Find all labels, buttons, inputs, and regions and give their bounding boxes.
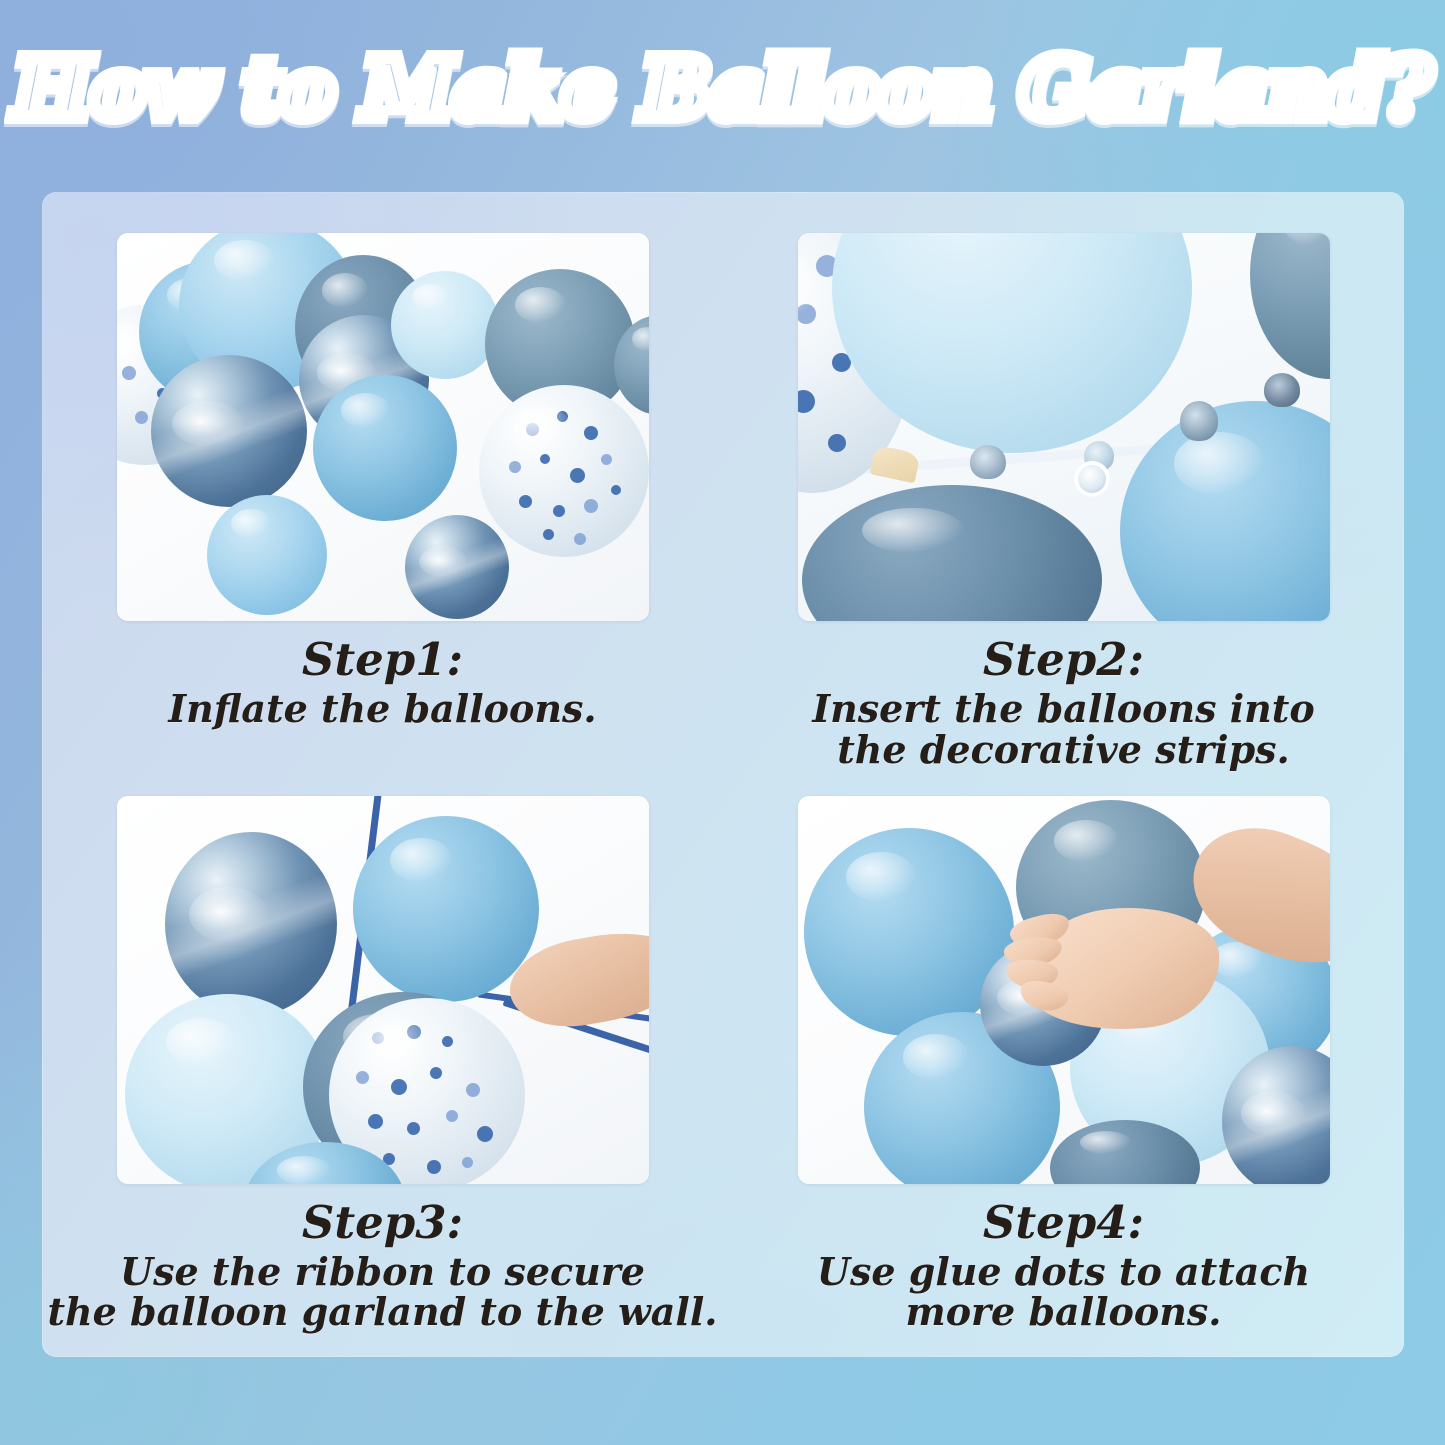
step-desc-2-line2: the decorative strips. bbox=[812, 728, 1314, 772]
step-photo-3 bbox=[117, 796, 649, 1184]
step-photo-2 bbox=[798, 233, 1330, 621]
step-desc-1: Inflate the balloons. bbox=[168, 687, 596, 731]
step-photo-4 bbox=[798, 796, 1330, 1184]
step-photo-1 bbox=[117, 233, 649, 621]
step-caption-2: Step2: Insert the balloons into the deco… bbox=[812, 635, 1314, 772]
step-desc-3-line2: the balloon garland to the wall. bbox=[47, 1290, 717, 1334]
step-desc-4-line2: more balloons. bbox=[817, 1290, 1310, 1334]
step-label-4: Step4: bbox=[817, 1198, 1310, 1248]
step-label-1: Step1: bbox=[168, 635, 596, 685]
step-caption-4: Step4: Use glue dots to attach more ball… bbox=[817, 1198, 1310, 1335]
step-cell-4: Step4: Use glue dots to attach more ball… bbox=[723, 775, 1404, 1358]
step-caption-3: Step3: Use the ribbon to secure the ball… bbox=[47, 1198, 717, 1335]
step-desc-3-line1: Use the ribbon to secure bbox=[47, 1250, 717, 1294]
steps-card: Step1: Inflate the balloons. bbox=[42, 192, 1404, 1357]
step-label-3: Step3: bbox=[47, 1198, 717, 1248]
step-caption-1: Step1: Inflate the balloons. bbox=[168, 635, 596, 732]
step-label-2: Step2: bbox=[812, 635, 1314, 685]
step-cell-3: Step3: Use the ribbon to secure the ball… bbox=[42, 775, 723, 1358]
page-title-text: How to Make Balloon Garland? bbox=[14, 46, 1432, 132]
step-desc-4-line1: Use glue dots to attach bbox=[817, 1250, 1310, 1294]
step-cell-1: Step1: Inflate the balloons. bbox=[42, 192, 723, 775]
steps-grid: Step1: Inflate the balloons. bbox=[42, 192, 1404, 1357]
step-cell-2: Step2: Insert the balloons into the deco… bbox=[723, 192, 1404, 775]
step-desc-2-line1: Insert the balloons into bbox=[812, 687, 1314, 731]
page-title: How to Make Balloon Garland? bbox=[0, 46, 1445, 132]
